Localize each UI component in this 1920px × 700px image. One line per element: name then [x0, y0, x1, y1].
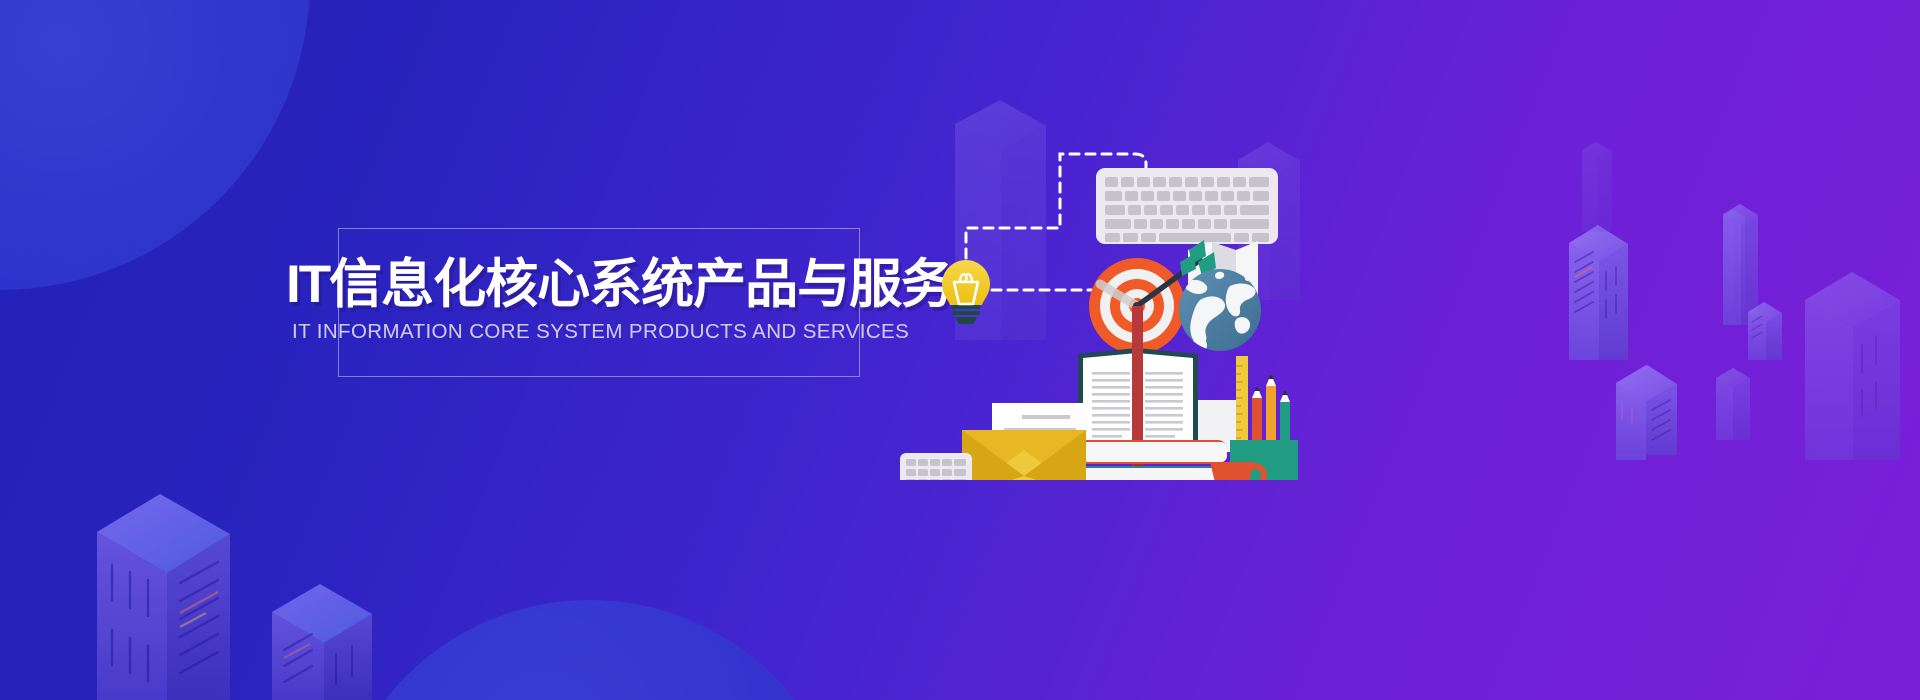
envelope-icon	[962, 430, 1086, 480]
page-subtitle: IT INFORMATION CORE SYSTEM PRODUCTS AND …	[292, 322, 992, 343]
building-bl-1	[97, 494, 230, 700]
building-r-7	[1805, 272, 1900, 460]
building-r-5	[1748, 302, 1782, 360]
it-education-desk-illustration	[900, 110, 1280, 470]
keyboard-left-icon	[900, 453, 972, 480]
lightbulb-icon	[942, 260, 990, 324]
building-r-6	[1716, 368, 1750, 440]
building-r-8	[1582, 142, 1612, 232]
page-title-prefix: IT	[286, 255, 329, 314]
page-title-rest: 信息化核心系统产品与服务	[329, 255, 953, 314]
building-r-1	[1569, 225, 1628, 360]
building-r-2	[1616, 365, 1677, 460]
building-bl-2	[272, 584, 372, 700]
globe-icon	[1179, 269, 1261, 354]
keyboard-top-icon	[1096, 168, 1278, 244]
building-r-4	[1723, 204, 1758, 325]
hero-banner: IT信息化核心系统产品与服务 IT INFORMATION CORE SYSTE…	[0, 0, 1920, 700]
stacked-book-red	[1072, 440, 1227, 464]
page-title: IT信息化核心系统产品与服务	[286, 258, 986, 311]
stacked-book-blue	[1070, 466, 1222, 480]
